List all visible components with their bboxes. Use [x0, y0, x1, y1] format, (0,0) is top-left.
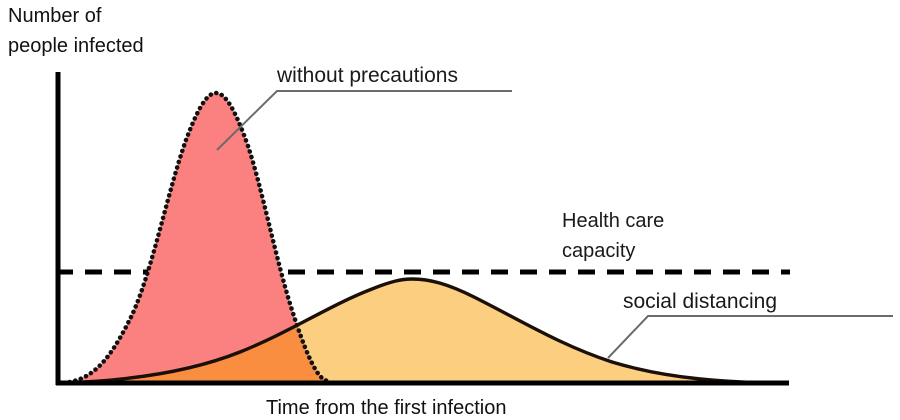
- annotation-social-distancing: social distancing: [608, 290, 893, 358]
- health-care-capacity-label-line2: capacity: [562, 240, 635, 262]
- annotation-without-precautions: without precautions: [217, 64, 512, 150]
- epidemic-curve-chart: Number of people infected Time from the …: [0, 0, 900, 420]
- social-distancing-label: social distancing: [623, 290, 777, 313]
- health-care-capacity-label-line1: Health care: [562, 210, 664, 232]
- x-axis-label: Time from the first infection: [266, 397, 506, 419]
- annotation-health-care-capacity: Health care capacity: [562, 210, 664, 262]
- chart-svg: Number of people infected Time from the …: [0, 0, 900, 420]
- y-axis-label-line1: Number of: [8, 5, 102, 27]
- without-precautions-label: without precautions: [276, 64, 458, 87]
- without-precautions-leader-line: [217, 91, 512, 150]
- social-distancing-leader-line: [608, 316, 893, 358]
- y-axis-label-line2: people infected: [8, 35, 144, 57]
